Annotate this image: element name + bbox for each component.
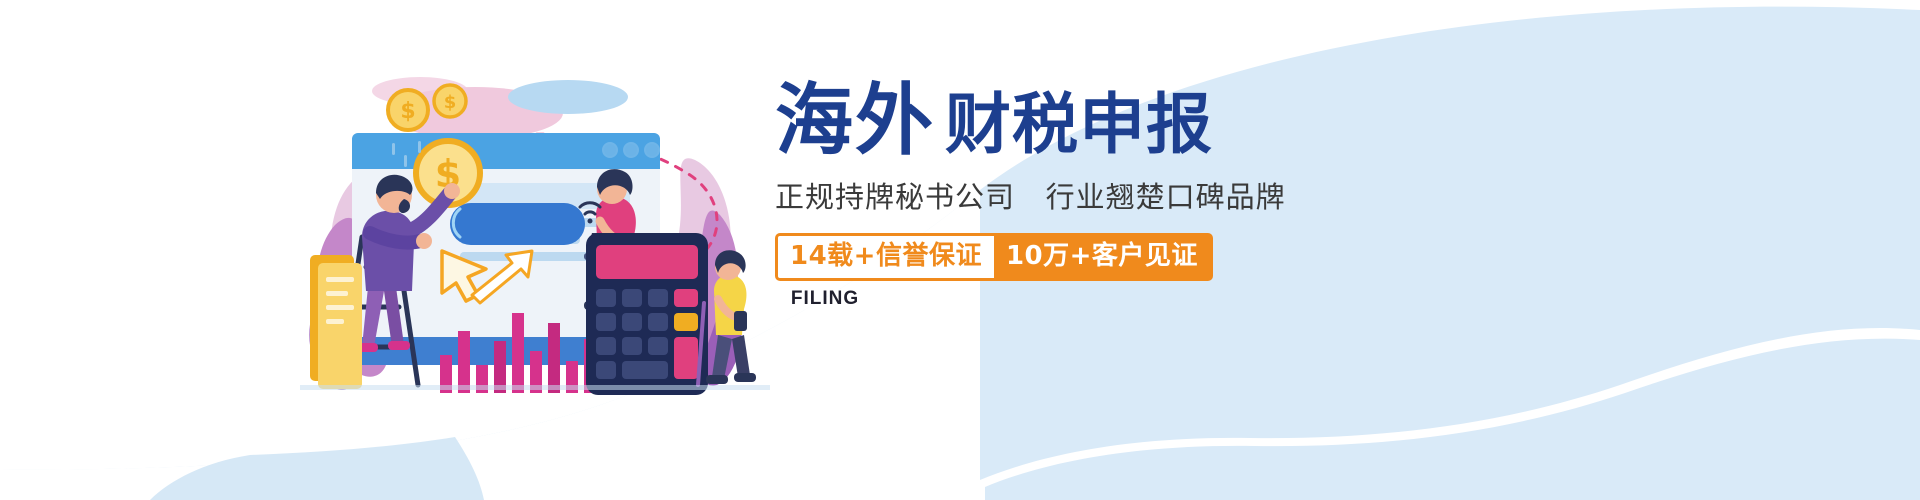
headline: 海外 财税申报 [775, 78, 1475, 160]
badge-experience: 14载+信誉保证 [778, 236, 994, 278]
headline-primary: 海外 [775, 82, 935, 160]
badge-group: 14载+信誉保证 10万+客户见证 [775, 233, 1213, 281]
svg-text:$: $ [444, 92, 457, 113]
filing-button [450, 203, 585, 245]
document-stack [310, 255, 362, 389]
svg-text:$: $ [400, 99, 415, 124]
headline-secondary: 财税申报 [945, 90, 1213, 160]
badge-customers: 10万+客户见证 [994, 236, 1210, 278]
tax-filing-illustration: $ $ $ [300, 55, 770, 395]
copy-block: 海外 财税申报 正规持牌秘书公司 行业翘楚口碑品牌 14载+信誉保证 10万+客… [775, 78, 1475, 281]
subtitle: 正规持牌秘书公司 行业翘楚口碑品牌 [775, 180, 1475, 214]
filing-button-label: FILING [770, 289, 880, 309]
calculator-tax-label: TAX [924, 319, 984, 337]
promo-banner: $ $ $ [0, 0, 1920, 500]
calculator [586, 233, 708, 395]
